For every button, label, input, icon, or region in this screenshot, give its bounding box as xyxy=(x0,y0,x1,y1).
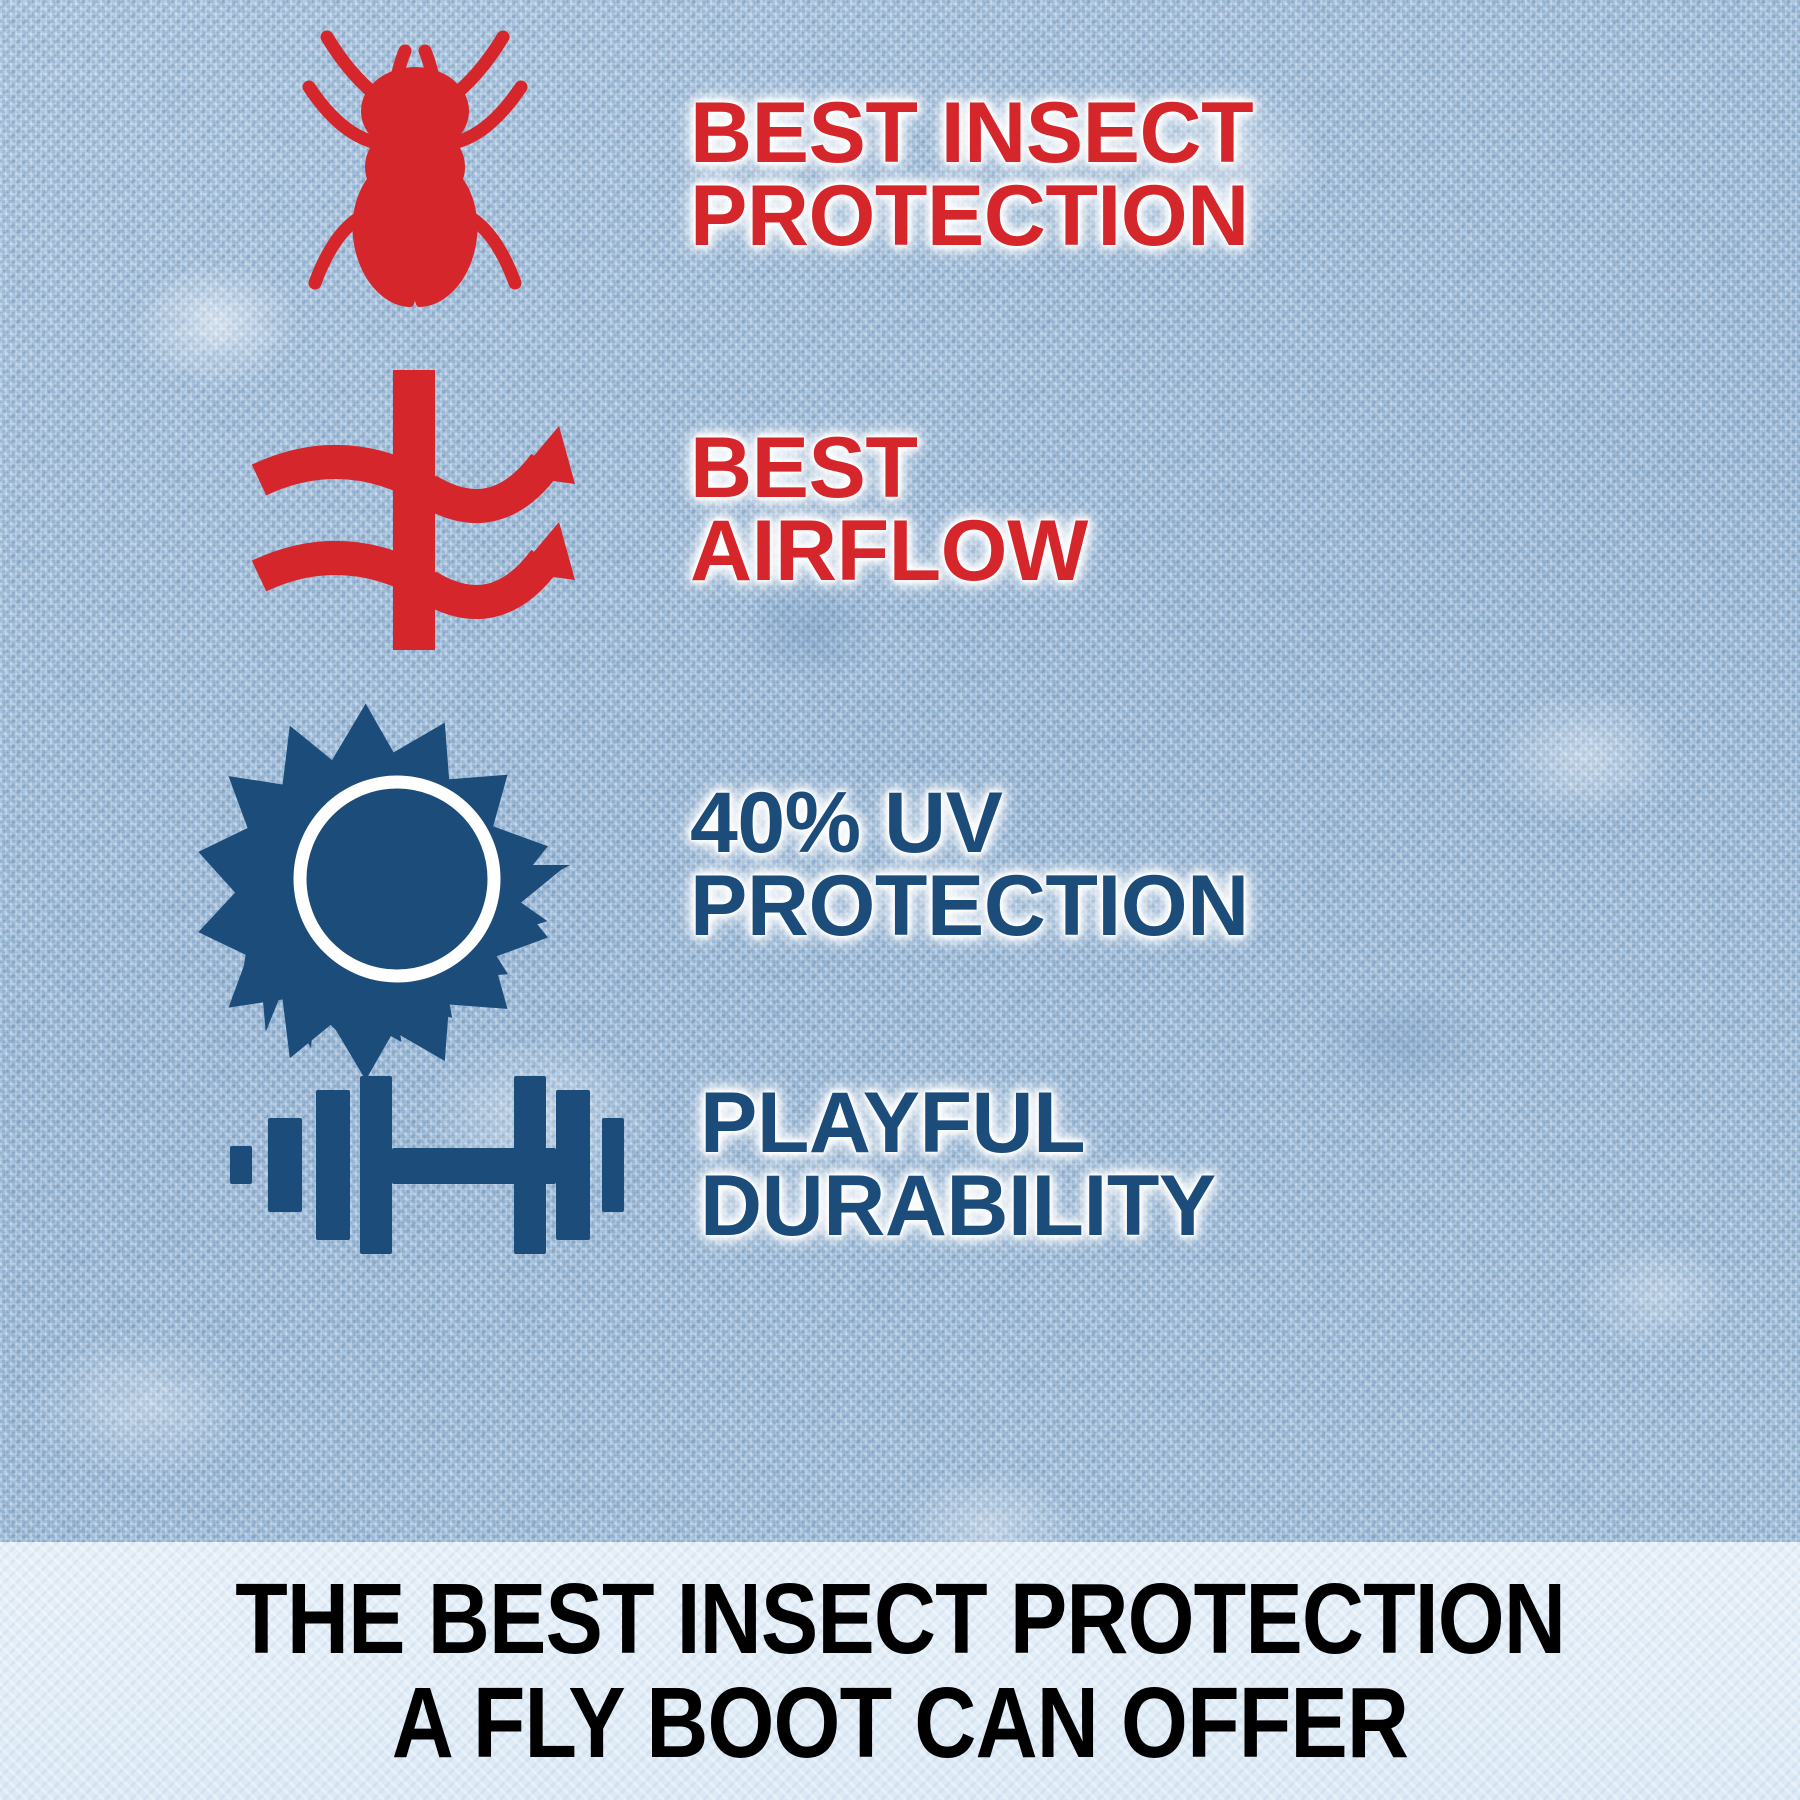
fly-icon xyxy=(265,15,565,335)
dumbbell-icon-cell xyxy=(210,1050,640,1280)
sun-uv-icon-cell xyxy=(250,700,580,1030)
fly-icon-cell xyxy=(250,10,580,340)
feature-label-line-2: DURABILITY xyxy=(700,1165,1216,1248)
sun-uv-icon xyxy=(255,705,575,1025)
feature-label-line-1: 40% UV xyxy=(690,782,1249,865)
feature-label-line-2: PROTECTION xyxy=(690,175,1253,258)
feature-label-line-2: PROTECTION xyxy=(690,865,1249,948)
bottom-banner: THE BEST INSECT PROTECTION A FLY BOOT CA… xyxy=(0,1542,1800,1800)
promo-graphic: BEST INSECT PROTECTION xyxy=(0,0,1800,1800)
feature-row-insect-protection: BEST INSECT PROTECTION xyxy=(250,10,1550,340)
feature-label-line-2: AIRFLOW xyxy=(690,510,1088,593)
banner-line-2: A FLY BOOT CAN OFFER xyxy=(392,1671,1408,1775)
feature-label-line-1: PLAYFUL xyxy=(700,1082,1216,1165)
dumbbell-icon xyxy=(220,1070,630,1260)
feature-row-airflow: BEST AIRFLOW xyxy=(250,360,1550,660)
feature-label-insect-protection: BEST INSECT PROTECTION xyxy=(690,92,1253,259)
feature-label-airflow: BEST AIRFLOW xyxy=(690,427,1088,594)
feature-row-uv-protection: 40% UV PROTECTION xyxy=(250,700,1550,1030)
airflow-icon xyxy=(245,360,585,660)
feature-label-uv-protection: 40% UV PROTECTION xyxy=(690,782,1249,949)
feature-label-line-1: BEST INSECT xyxy=(690,92,1253,175)
feature-label-playful-durability: PLAYFUL DURABILITY xyxy=(700,1082,1216,1249)
feature-row-playful-durability: PLAYFUL DURABILITY xyxy=(210,1040,1550,1290)
banner-line-1: THE BEST INSECT PROTECTION xyxy=(235,1567,1565,1671)
feature-label-line-1: BEST xyxy=(690,427,1088,510)
airflow-icon-cell xyxy=(250,360,580,660)
